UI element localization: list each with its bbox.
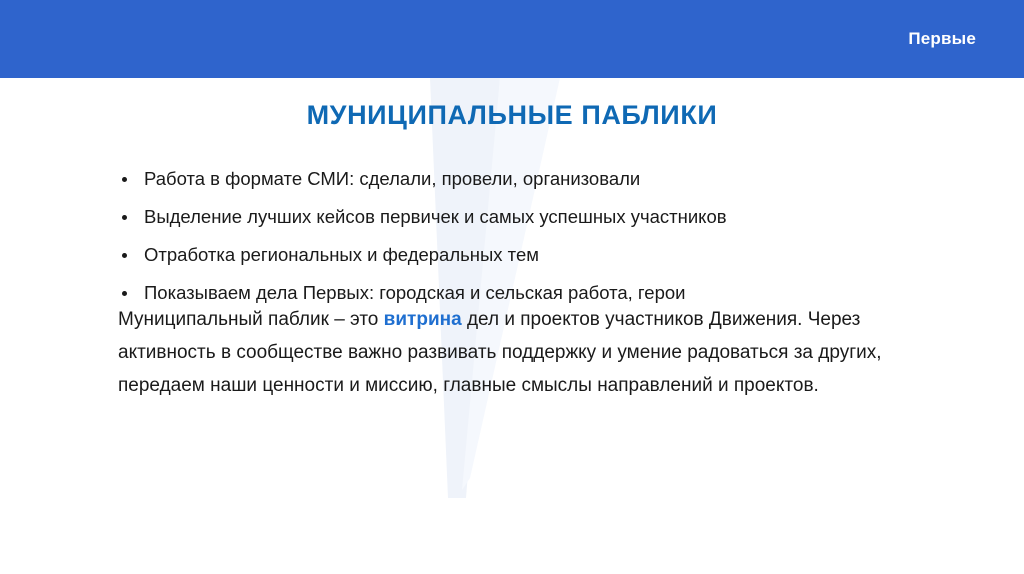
- presentation-slide: Первые МУНИЦИПАЛЬНЫЕ ПАБЛИКИ Работа в фо…: [0, 0, 1024, 574]
- paragraph-text-before: Муниципальный паблик – это: [118, 309, 384, 330]
- body-paragraph: Муниципальный паблик – это витрина дел и…: [118, 303, 918, 402]
- list-item: Выделение лучших кейсов первичек и самых…: [118, 202, 938, 232]
- list-item-text: Показываем дела Первых: городская и сель…: [144, 282, 685, 303]
- list-item-text: Работа в формате СМИ: сделали, провели, …: [144, 168, 640, 189]
- list-item-text: Отработка региональных и федеральных тем: [144, 244, 539, 265]
- brand-label: Первые: [908, 29, 976, 49]
- key-points-list: Работа в формате СМИ: сделали, провели, …: [118, 164, 938, 316]
- top-header-band: Первые: [0, 0, 1024, 78]
- highlighted-term: витрина: [384, 309, 462, 330]
- page-title: МУНИЦИПАЛЬНЫЕ ПАБЛИКИ: [0, 100, 1024, 131]
- list-item: Отработка региональных и федеральных тем: [118, 240, 938, 270]
- list-item-text: Выделение лучших кейсов первичек и самых…: [144, 206, 727, 227]
- slide-content: МУНИЦИПАЛЬНЫЕ ПАБЛИКИ Работа в формате С…: [0, 78, 1024, 574]
- list-item: Работа в формате СМИ: сделали, провели, …: [118, 164, 938, 194]
